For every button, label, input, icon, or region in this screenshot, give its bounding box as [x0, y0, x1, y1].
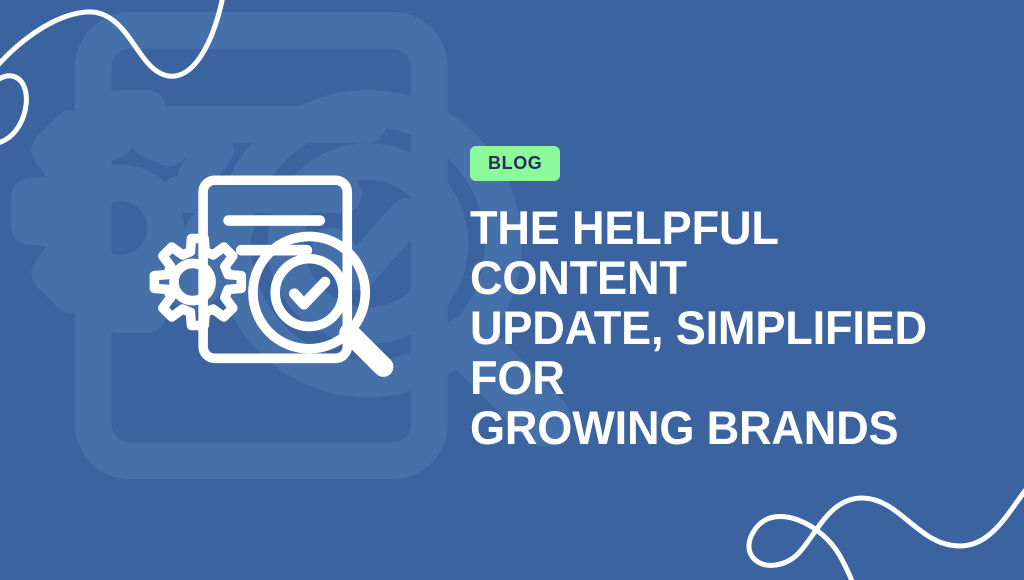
check-mark — [294, 282, 325, 304]
gear-icon — [154, 239, 241, 326]
page-title: THE HELPFUL CONTENT UPDATE, SIMPLIFIED F… — [470, 203, 979, 453]
headline-line-3: GROWING BRANDS — [470, 401, 898, 454]
magnifier-handle — [349, 333, 383, 367]
banner-content: BLOG THE HELPFUL CONTENT UPDATE, SIMPLIF… — [470, 146, 1000, 453]
headline-line-1: THE HELPFUL CONTENT — [470, 201, 778, 304]
headline-line-2: UPDATE, SIMPLIFIED FOR — [470, 301, 927, 404]
blog-banner: BLOG THE HELPFUL CONTENT UPDATE, SIMPLIF… — [0, 0, 1024, 580]
category-badge[interactable]: BLOG — [470, 146, 560, 181]
